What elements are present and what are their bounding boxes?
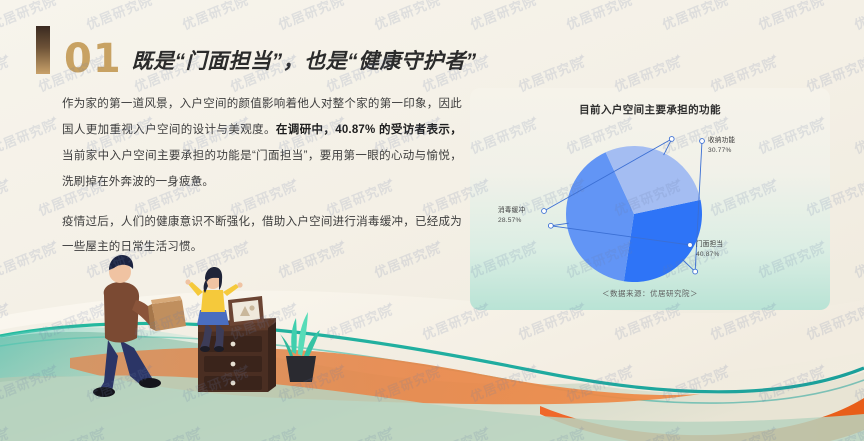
section-heading: 01 既是“门面担当”，也是“健康守护者” xyxy=(36,26,477,74)
pie-leader-dot-1-0 xyxy=(548,223,553,228)
picture-frame xyxy=(228,296,264,326)
pie-label-2: 消毒缓冲 28.57% xyxy=(498,206,525,225)
section-number: 01 xyxy=(64,40,122,78)
paragraph-2: 疫情过后，人们的健康意识不断强化，借助入户空间进行消毒缓冲，已经成为一些屋主的日… xyxy=(62,210,462,262)
pie-label-0: 收纳功能 30.77% xyxy=(708,136,735,155)
chart-source-row: ＜数据来源：优居研究院＞ xyxy=(470,288,830,308)
pie-leader-dot-2-1 xyxy=(542,209,547,214)
body-copy: 作为家的第一道风景，入户空间的颜值影响着他人对整个家的第一印象，因此国人更加重视… xyxy=(62,92,462,261)
pie-label-1-value: 40.87% xyxy=(696,250,723,260)
pie-label-2-name: 消毒缓冲 xyxy=(498,207,525,214)
data-source-note: ＜数据来源：优居研究院＞ xyxy=(470,288,830,299)
cardboard-box xyxy=(148,296,186,331)
paragraph-1-highlight: 在调研中，40.87% 的受访者表示， xyxy=(276,124,462,136)
pie-chart xyxy=(470,88,830,310)
potted-plant xyxy=(280,312,320,382)
pie-leader-dot-0-0 xyxy=(693,269,698,274)
pie-label-0-value: 30.77% xyxy=(708,146,735,156)
man-carrying-box xyxy=(93,255,186,397)
paragraph-1-tail: 当前家中入户空间主要承担的功能是“门面担当”，要用第一眼的心动与愉悦，洗刷掉在外… xyxy=(62,150,462,188)
slide-canvas: 01 既是“门面担当”，也是“健康守护者” 作为家的第一道风景，入户空间的颜值影… xyxy=(0,0,864,441)
paragraph-1: 作为家的第一道风景，入户空间的颜值影响着他人对整个家的第一印象，因此国人更加重视… xyxy=(62,92,462,196)
pie-label-1-name: 门面担当 xyxy=(696,241,723,248)
pie-slices xyxy=(566,146,702,282)
pie-label-0-name: 收纳功能 xyxy=(708,137,735,144)
pie-leader-dot-2-0 xyxy=(669,137,674,142)
pie-label-1: 门面担当 40.87% xyxy=(696,240,723,259)
chart-panel: 目前入户空间主要承担的功能 收纳功能 30.77% 门面担当 40.87% 消毒… xyxy=(470,88,830,310)
pie-leader-dot-1-1 xyxy=(688,243,693,248)
heading-accent-bar xyxy=(36,26,50,74)
page-title: 既是“门面担当”，也是“健康守护者” xyxy=(132,45,477,75)
pie-label-2-value: 28.57% xyxy=(498,216,525,226)
pie-leader-dot-0-1 xyxy=(700,139,705,144)
